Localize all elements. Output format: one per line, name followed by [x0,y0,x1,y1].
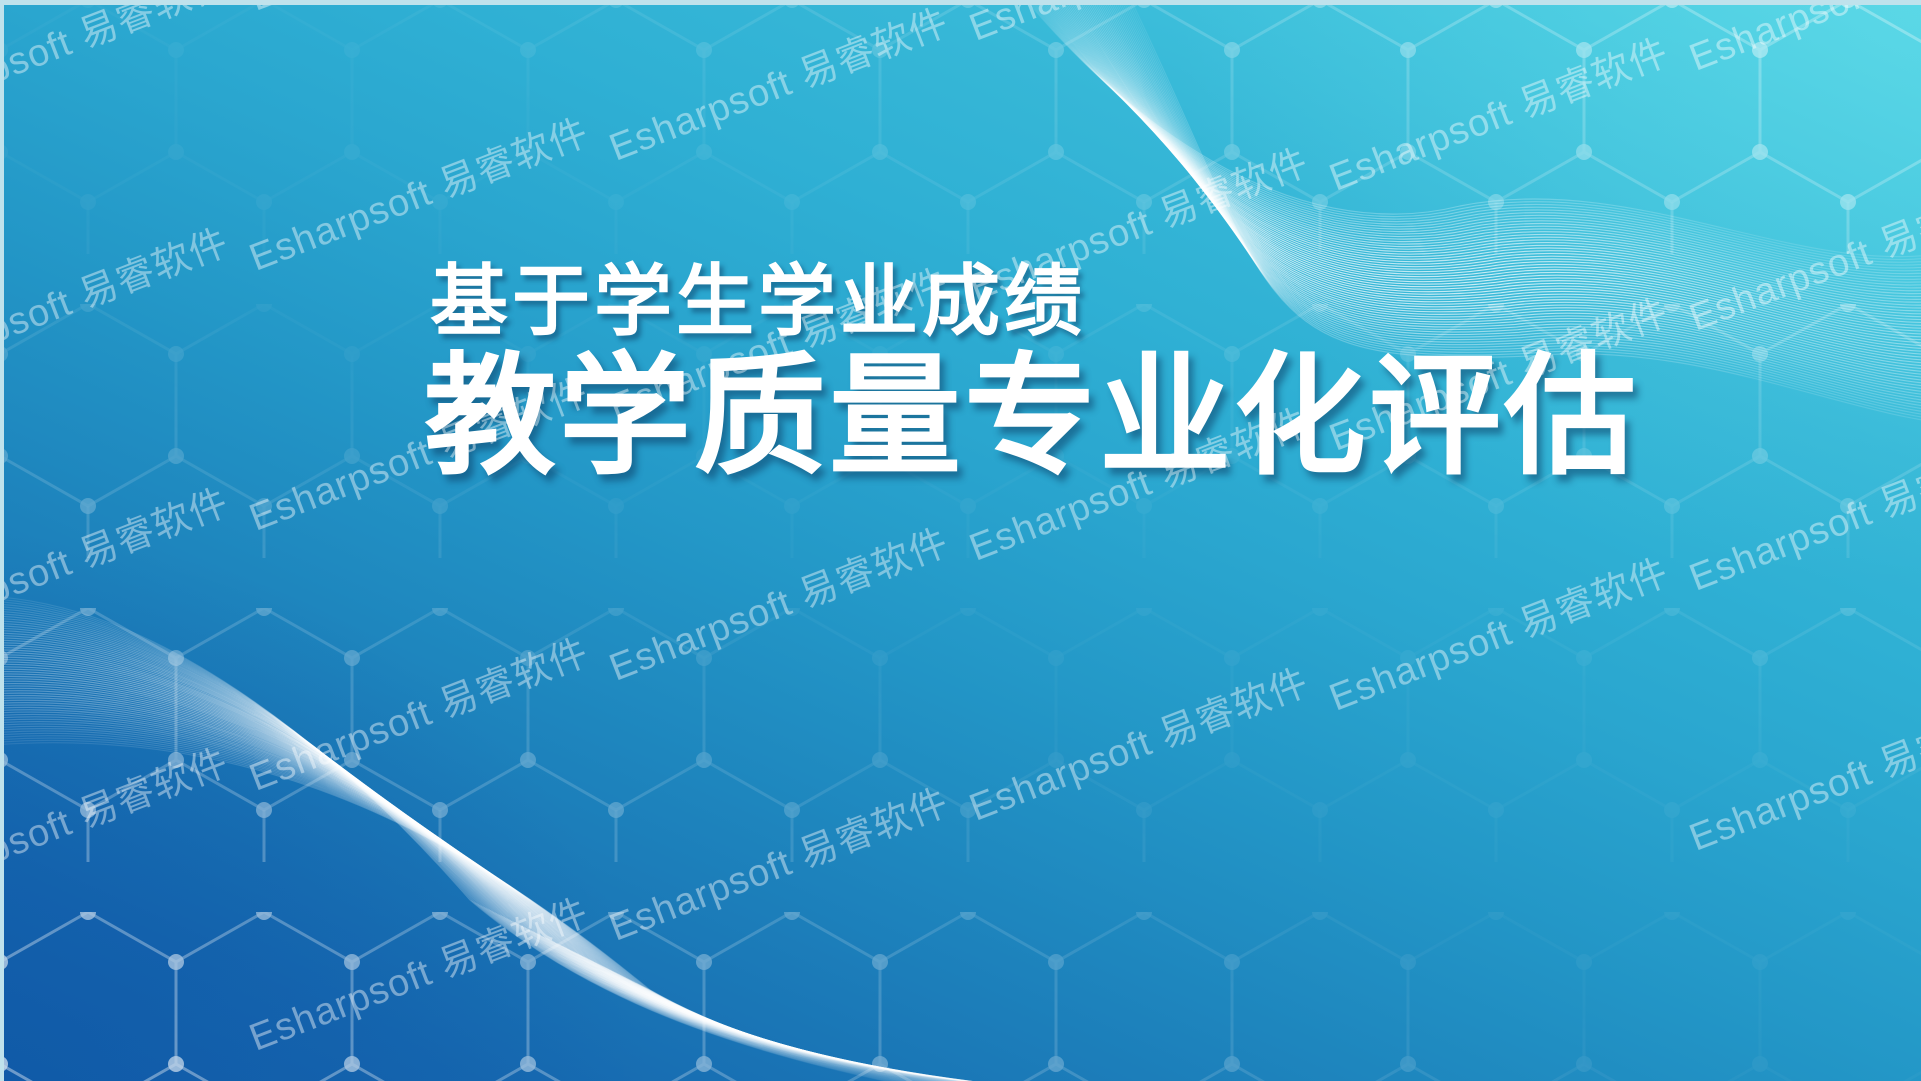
slide-main-title: 教学质量专业化评估 [424,348,1744,487]
slide-subtitle: 基于学生学业成绩 [430,262,1744,342]
title-block: 基于学生学业成绩 教学质量专业化评估 [424,262,1744,486]
presentation-slide: 基于学生学业成绩 教学质量专业化评估 Esharpsoft 易睿软件Esharp… [0,0,1921,1081]
background-corner-tint [0,0,1921,1081]
